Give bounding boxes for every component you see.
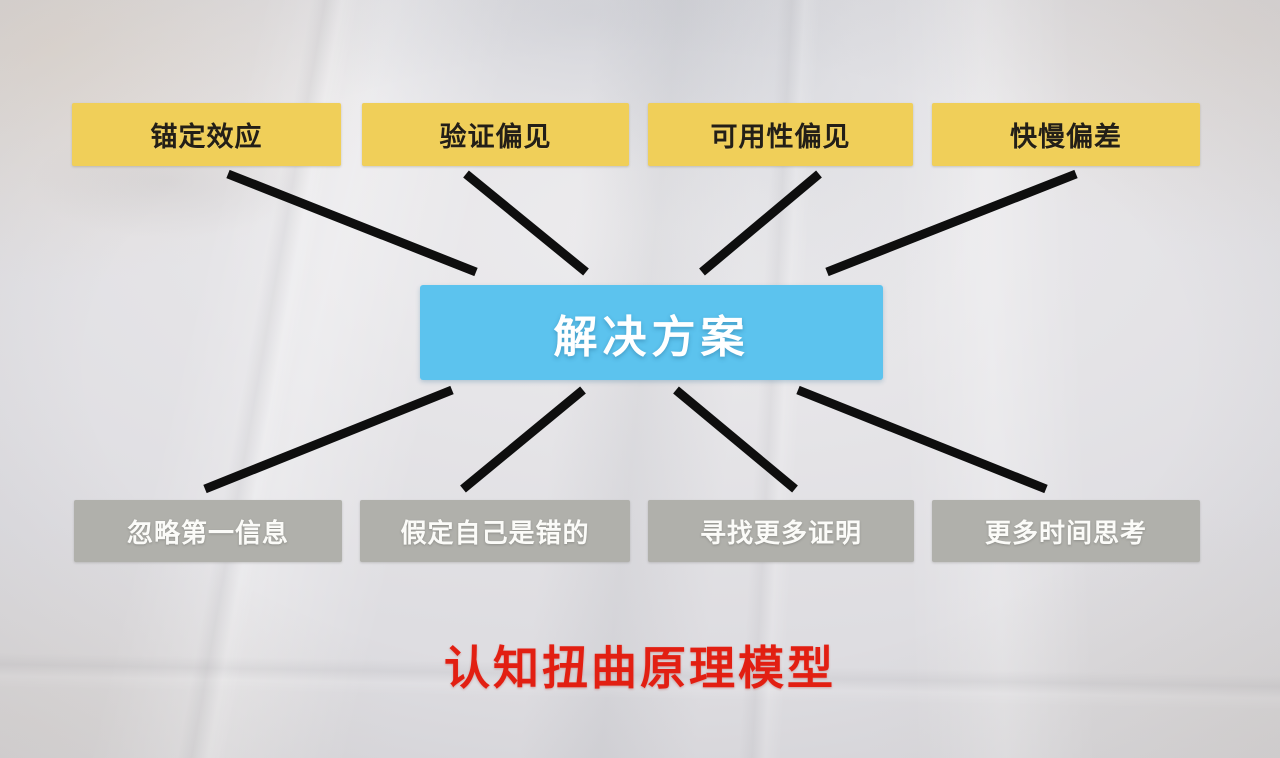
- bias-node-confirmation-bias[interactable]: 验证偏见: [362, 103, 629, 166]
- bias-node-fast-slow-bias[interactable]: 快慢偏差: [932, 103, 1200, 166]
- connector-availability-to-solution: [702, 174, 819, 272]
- bias-node-anchoring-effect[interactable]: 锚定效应: [72, 103, 341, 166]
- connector-fastslow-to-solution: [827, 174, 1076, 272]
- diagram-canvas: 锚定效应 验证偏见 可用性偏见 快慢偏差 解决方案 忽略第一信息 假定自己是错的…: [0, 0, 1280, 758]
- remedy-node-ignore-first-information[interactable]: 忽略第一信息: [74, 500, 342, 562]
- diagram-caption: 认知扭曲原理模型: [0, 632, 1280, 698]
- remedy-node-seek-more-proof[interactable]: 寻找更多证明: [648, 500, 914, 562]
- connector-solution-to-seek-proof: [676, 390, 795, 489]
- bias-node-availability-bias[interactable]: 可用性偏见: [648, 103, 913, 166]
- connector-solution-to-assume-wrong: [463, 390, 583, 489]
- connector-confirmation-to-solution: [466, 174, 586, 272]
- connector-solution-to-more-time: [798, 390, 1046, 489]
- connector-solution-to-ignore-first: [205, 390, 452, 489]
- remedy-node-more-time-to-think[interactable]: 更多时间思考: [932, 500, 1200, 562]
- center-node-solution[interactable]: 解决方案: [420, 285, 883, 380]
- connector-anchoring-to-solution: [228, 174, 476, 272]
- remedy-node-assume-you-are-wrong[interactable]: 假定自己是错的: [360, 500, 630, 562]
